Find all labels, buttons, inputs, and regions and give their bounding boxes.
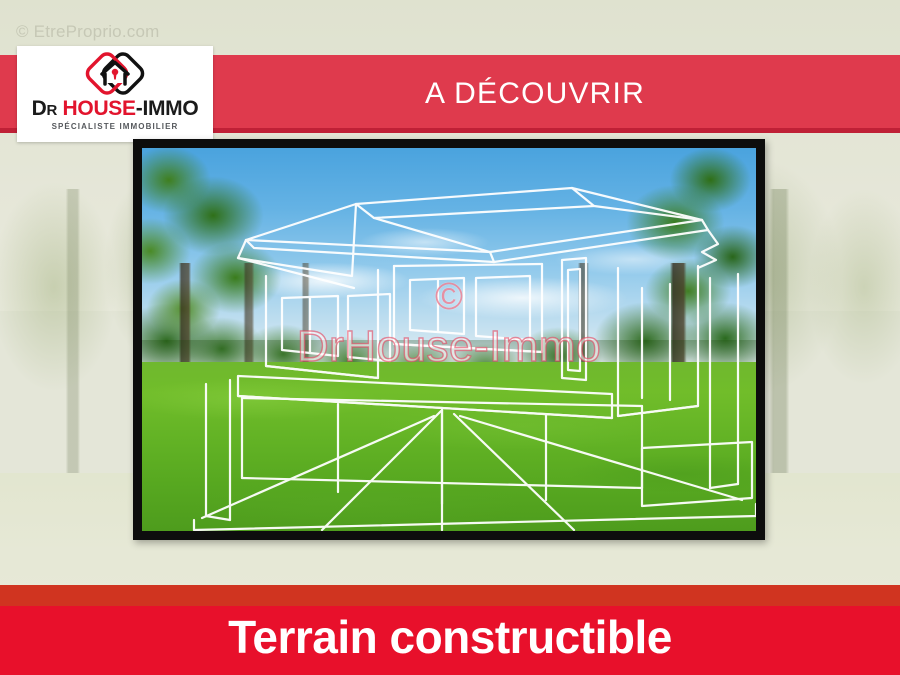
house-wireframe-sketch <box>142 148 756 531</box>
listing-photo-frame[interactable]: © DrHouse-Immo <box>133 139 765 540</box>
logo-word-dr: DR <box>32 97 57 120</box>
listing-photo: © DrHouse-Immo <box>142 148 756 531</box>
real-estate-listing-card: © EtreProprio.com A DÉCOUVRIR DR HOUSE-I… <box>0 0 900 675</box>
top-banner-label: A DÉCOUVRIR <box>255 77 645 111</box>
logo-word-house: HOUSE <box>63 97 136 120</box>
agency-logo[interactable]: DR HOUSE-IMMO SPÉCIALISTE IMMOBILIER <box>17 46 213 142</box>
property-type-label: Terrain constructible <box>228 610 672 664</box>
logo-word-immo: IMMO <box>142 97 198 120</box>
house-keyhole-diamond-emblem <box>76 51 154 97</box>
logo-tagline: SPÉCIALISTE IMMOBILIER <box>52 122 179 131</box>
bottom-red-banner: Terrain constructible <box>0 585 900 675</box>
logo-wordmark: DR HOUSE-IMMO <box>32 98 199 119</box>
